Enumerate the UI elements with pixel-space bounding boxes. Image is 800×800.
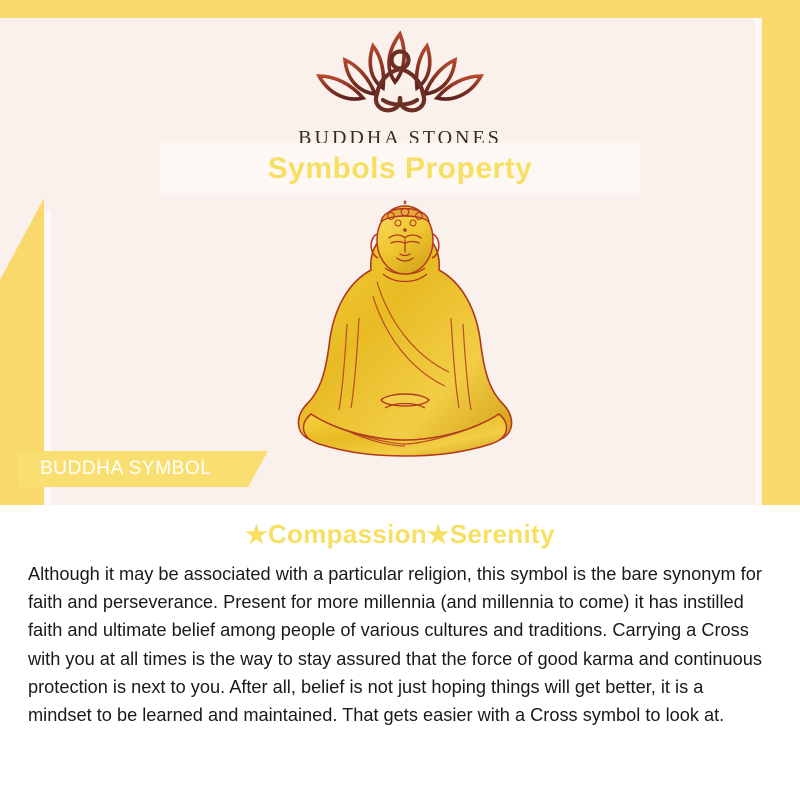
subheading-word-compassion: Compassion — [268, 519, 427, 549]
star-icon-1: ★ — [245, 521, 268, 549]
subheading-word-serenity: Serenity — [450, 519, 555, 549]
poster-root: BUDDHA STONES Symbols Property — [0, 0, 800, 800]
buddha-symbol-label: BUDDHA SYMBOL — [18, 458, 211, 480]
content-card: ★Compassion★Serenity Although it may be … — [0, 505, 800, 800]
golden-buddha-statue-illustration — [285, 196, 525, 486]
section-subheading: ★Compassion★Serenity — [0, 505, 800, 550]
buddha-symbol-ribbon: BUDDHA SYMBOL — [18, 451, 268, 487]
star-icon-2: ★ — [427, 521, 450, 549]
top-yellow-border — [0, 0, 800, 18]
section-body-text: Although it may be associated with a par… — [0, 550, 800, 729]
title-banner: Symbols Property — [160, 143, 640, 195]
page-title: Symbols Property — [268, 152, 533, 186]
lotus-meditation-icon — [0, 24, 800, 125]
brand-header: BUDDHA STONES — [0, 24, 800, 150]
